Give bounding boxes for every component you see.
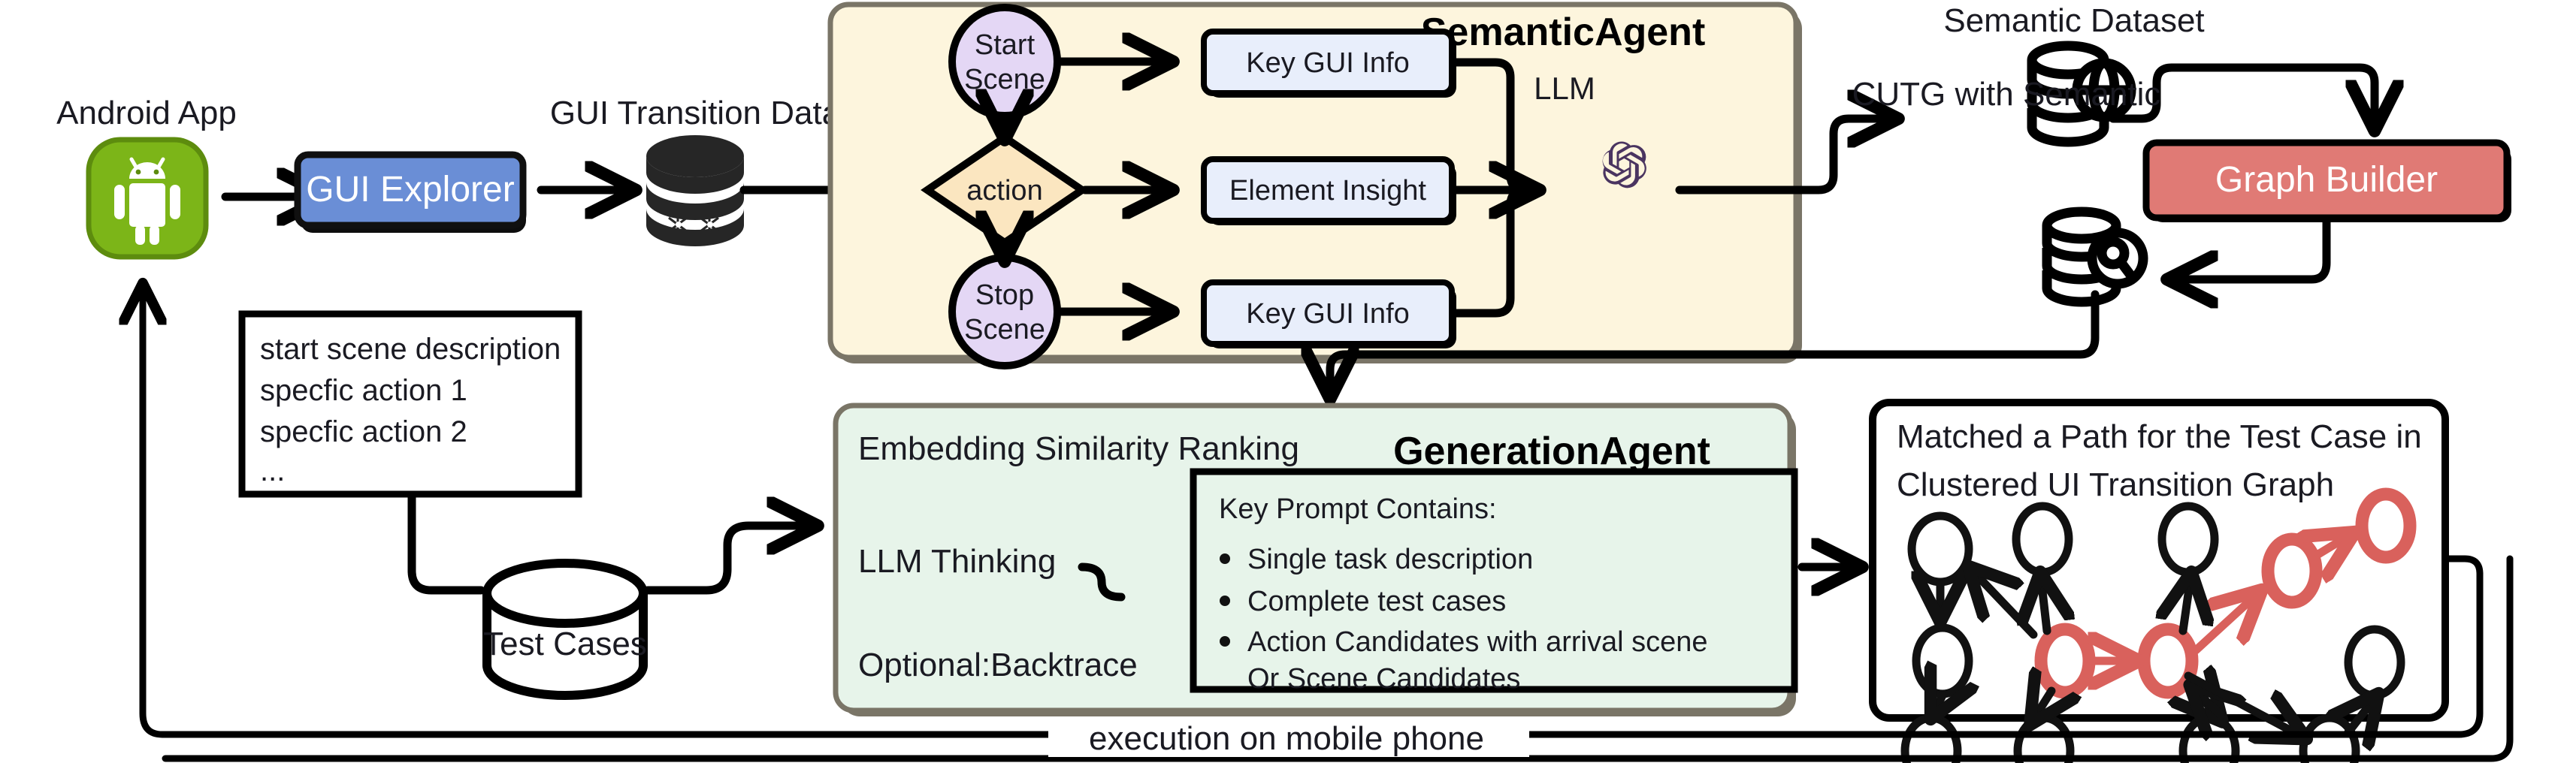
architecture-diagram: Android App GUI Explorer GUI: [0, 0, 2576, 763]
gui-transition-data-group: GUI Transition Data: [550, 95, 841, 246]
embedding-similarity-ranking-label: Embedding Similarity Ranking: [858, 430, 1299, 467]
graph-builder-button[interactable]: Graph Builder: [2146, 143, 2511, 222]
generation-agent-title: GenerationAgent: [1393, 430, 1710, 473]
test-cases-store: Test Cases: [483, 563, 647, 695]
key-prompt-bullet-4: Or Scene Candidates: [1247, 663, 1520, 695]
key-prompt-box: Key Prompt Contains: Single task descrip…: [1193, 472, 1794, 695]
android-app-group: Android App: [56, 95, 237, 257]
semantic-agent-title: SemanticAgent: [1421, 11, 1706, 54]
output-box-key-gui-info-bottom[interactable]: Key GUI Info: [1204, 282, 1456, 348]
output-box-key-gui-info-top[interactable]: Key GUI Info: [1204, 32, 1456, 98]
semantic-dataset-label: Semantic Dataset: [1943, 2, 2204, 39]
arrow-llm-to-dataset: [1804, 119, 1894, 190]
start-scene-line2: Scene: [964, 64, 1045, 95]
bullet-dot-3: [1220, 636, 1230, 647]
android-robot-icon: [89, 140, 206, 257]
key-prompt-bullet-3: Action Candidates with arrival scene: [1247, 626, 1708, 658]
gui-transition-data-label: GUI Transition Data: [550, 95, 841, 131]
optional-backtrace-label: Optional:Backtrace: [858, 647, 1138, 683]
start-scene-line1: Start: [975, 29, 1036, 61]
gui-explorer-button[interactable]: GUI Explorer: [298, 155, 526, 233]
action-label: action: [966, 175, 1042, 207]
database-search-icon: [2047, 212, 2143, 302]
stop-scene-line2: Scene: [964, 314, 1045, 345]
key-prompt-bullet-1: Single task description: [1247, 544, 1533, 575]
testcase-line-1: start scene description: [260, 333, 561, 366]
line-box-to-testcases: [412, 496, 481, 590]
test-cases-label: Test Cases: [483, 626, 647, 662]
matched-path-panel: Matched a Path for the Test Case in Clus…: [1873, 403, 2445, 763]
graph-builder-label: Graph Builder: [2215, 160, 2438, 200]
match-panel-title-line2: Clustered UI Transition Graph: [1897, 466, 2334, 503]
database-asterisk-icon: [646, 135, 744, 246]
android-app-label: Android App: [56, 95, 237, 131]
testcase-line-3: specfic action 2: [260, 415, 467, 448]
key-gui-info-bottom-label: Key GUI Info: [1246, 298, 1410, 330]
key-prompt-bullet-2: Complete test cases: [1247, 586, 1506, 617]
key-gui-info-top-label: Key GUI Info: [1246, 47, 1410, 79]
element-insight-label: Element Insight: [1229, 175, 1426, 207]
cutg-group: CUTG with Semantic: [1852, 76, 2161, 302]
node-stop-scene[interactable]: Stop Scene: [952, 258, 1057, 366]
bullet-dot-1: [1220, 553, 1230, 564]
semantic-agent-subtitle: LLM: [1534, 71, 1595, 106]
stop-scene-line1: Stop: [975, 279, 1034, 311]
match-panel-title-line1: Matched a Path for the Test Case in: [1897, 418, 2422, 455]
cutg-label: CUTG with Semantic: [1852, 76, 2161, 113]
execution-on-mobile-phone-label-top: execution on mobile phone: [1089, 720, 1484, 757]
testcase-line-4: ...: [260, 454, 285, 487]
arrow-testcases-to-generation: [648, 526, 813, 590]
bullet-dot-2: [1220, 596, 1230, 606]
llm-thinking-label: LLM Thinking: [858, 543, 1056, 580]
testcase-line-2: specfic action 1: [260, 374, 467, 407]
output-box-element-insight[interactable]: Element Insight: [1204, 159, 1456, 225]
node-start-scene[interactable]: Start Scene: [952, 8, 1057, 116]
arrow-builder-to-cutg: [2172, 222, 2327, 279]
gui-explorer-label: GUI Explorer: [306, 170, 514, 210]
testcase-description-box: start scene description specfic action 1…: [242, 314, 579, 494]
key-prompt-heading: Key Prompt Contains:: [1219, 493, 1497, 525]
